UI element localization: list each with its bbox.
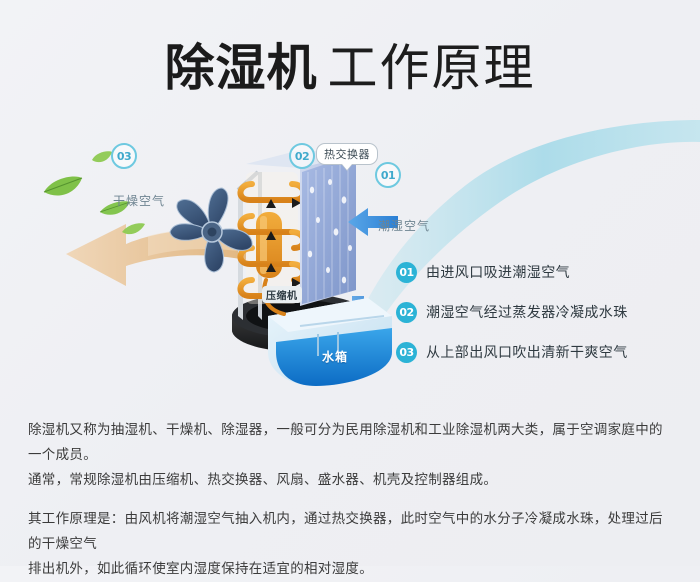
page-title-strong: 除湿机 bbox=[165, 39, 318, 97]
label-dry-air: 干燥空气 bbox=[113, 192, 165, 209]
legend-list: 01 由进风口吸进潮湿空气 02 潮湿空气经过蒸发器冷凝成水珠 03 从上部出风… bbox=[396, 252, 686, 372]
label-humid-air: 潮湿空气 bbox=[378, 217, 430, 234]
body-copy: 除湿机又称为抽湿机、干燥机、除湿器，一般可分为民用除湿机和工业除湿机两大类，属于… bbox=[28, 418, 676, 582]
badge-humid-air: 01 bbox=[375, 162, 401, 188]
legend-label: 从上部出风口吹出清新干爽空气 bbox=[426, 342, 628, 362]
legend-label: 由进风口吸进潮湿空气 bbox=[426, 262, 570, 282]
paragraph-spacer bbox=[28, 493, 676, 507]
legend-number: 03 bbox=[396, 342, 417, 363]
legend-number: 01 bbox=[396, 262, 417, 283]
label-water-tank: 水箱 bbox=[322, 348, 348, 365]
callout-heat-exchanger: 热交换器 bbox=[316, 143, 378, 165]
paragraph-1-line-1: 除湿机又称为抽湿机、干燥机、除湿器，一般可分为民用除湿机和工业除湿机两大类，属于… bbox=[28, 418, 676, 468]
page-title-light: 工作原理 bbox=[328, 39, 536, 97]
paragraph-2-line-1: 其工作原理是：由风机将潮湿空气抽入机内，通过热交换器，此时空气中的水分子冷凝成水… bbox=[28, 507, 676, 557]
legend-number: 02 bbox=[396, 302, 417, 323]
paragraph-1-line-2: 通常，常规除湿机由压缩机、热交换器、风扇、盛水器、机壳及控制器组成。 bbox=[28, 468, 676, 493]
legend-item: 02 潮湿空气经过蒸发器冷凝成水珠 bbox=[396, 292, 686, 332]
badge-dry-air: 03 bbox=[111, 143, 137, 169]
paragraph-2-line-2: 排出机外，如此循环使室内湿度保持在适宜的相对湿度。 bbox=[28, 557, 676, 582]
legend-label: 潮湿空气经过蒸发器冷凝成水珠 bbox=[426, 302, 628, 322]
page-root: 除湿机工作原理 bbox=[0, 0, 700, 566]
label-compressor: 压缩机 bbox=[262, 286, 302, 303]
badge-heat-exchanger: 02 bbox=[289, 143, 315, 169]
legend-item: 03 从上部出风口吹出清新干爽空气 bbox=[396, 332, 686, 372]
page-title: 除湿机工作原理 bbox=[0, 28, 700, 100]
legend-item: 01 由进风口吸进潮湿空气 bbox=[396, 252, 686, 292]
